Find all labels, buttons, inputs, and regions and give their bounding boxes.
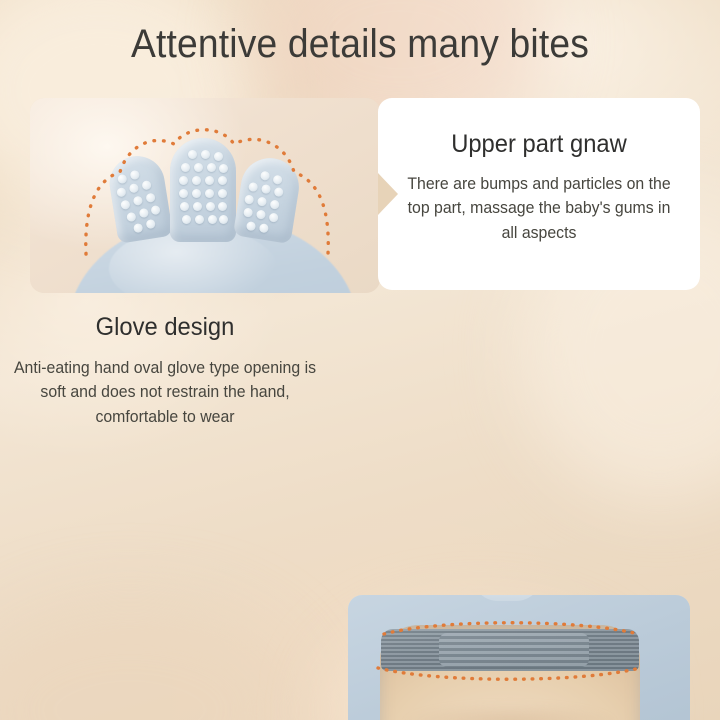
dotted-highlight-outline xyxy=(82,122,332,257)
panel-side-bite-point: Side bite point The nibbling points on b… xyxy=(0,500,720,720)
panel-body: Anti-eating hand oval glove type opening… xyxy=(7,356,324,429)
panel-body: There are bumps and particles on the top… xyxy=(384,172,693,245)
text-block-glove-design: Glove design Anti-eating hand oval glove… xyxy=(0,313,330,473)
photo-upper-part-gnaw xyxy=(30,98,380,293)
text-card-upper-part-gnaw: Upper part gnaw There are bumps and part… xyxy=(378,98,700,290)
panel-title: Glove design xyxy=(8,313,322,342)
infographic-page: Attentive details many bites xyxy=(0,0,720,720)
panel-title: Upper part gnaw xyxy=(386,130,692,159)
panel-upper-part-gnaw: Upper part gnaw There are bumps and part… xyxy=(0,0,720,300)
panel-glove-design: Glove design Anti-eating hand oval glove… xyxy=(0,295,720,500)
